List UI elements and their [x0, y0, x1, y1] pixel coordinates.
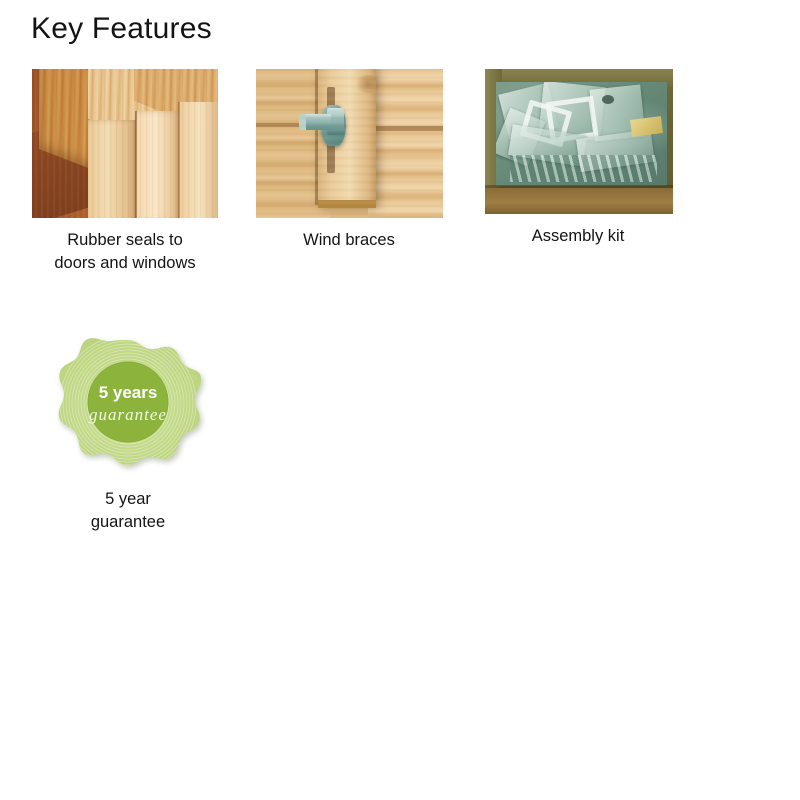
screw-bundle [510, 155, 657, 182]
box-contents [496, 82, 667, 186]
caption-line-1: Assembly kit [485, 225, 671, 248]
caption-line-2: guarantee [55, 511, 201, 534]
frame-groove-2 [178, 102, 180, 218]
caption-line-1: 5 year [55, 488, 201, 511]
feature-image-assembly-kit [485, 69, 673, 214]
caption-line-2: doors and windows [32, 252, 218, 275]
feature-caption-assembly-kit: Assembly kit [485, 225, 671, 248]
guarantee-badge: 5 years guarantee [55, 338, 201, 472]
key-features-panel: Key Features Rubber seals to doors and w… [0, 0, 800, 800]
caption-line-1: Rubber seals to [32, 229, 218, 252]
badge-top-text: 5 years [99, 383, 158, 402]
feature-card-rubber-seals: Rubber seals to doors and windows [32, 69, 218, 275]
feature-caption-wind-braces: Wind braces [256, 229, 442, 252]
feature-caption-guarantee: 5 year guarantee [55, 488, 201, 534]
badge-bottom-text: guarantee [89, 405, 167, 424]
feature-card-wind-braces: Wind braces [256, 69, 442, 252]
wind-brace-photo [256, 69, 443, 218]
frame-groove-1 [135, 111, 137, 218]
frame-vertical-board-1 [88, 120, 136, 218]
feature-card-guarantee: 5 years guarantee 5 year guarantee [55, 338, 201, 534]
caption-line-1: Wind braces [256, 229, 442, 252]
box-front-panel [485, 188, 673, 214]
frame-vertical-board-2 [136, 111, 179, 218]
wooden-frame-photo [32, 69, 218, 218]
feature-image-wind-braces [256, 69, 443, 218]
frame-vertical-board-3 [179, 102, 218, 218]
feature-card-assembly-kit: Assembly kit [485, 69, 671, 248]
feature-caption-rubber-seals: Rubber seals to doors and windows [32, 229, 218, 275]
page-title: Key Features [31, 11, 212, 47]
paper-label [631, 116, 664, 136]
assembly-kit-photo [485, 69, 673, 214]
guarantee-rosette-icon: 5 years guarantee [55, 338, 201, 472]
wood-grain-overlay [256, 69, 443, 218]
feature-image-rubber-seals [32, 69, 218, 218]
